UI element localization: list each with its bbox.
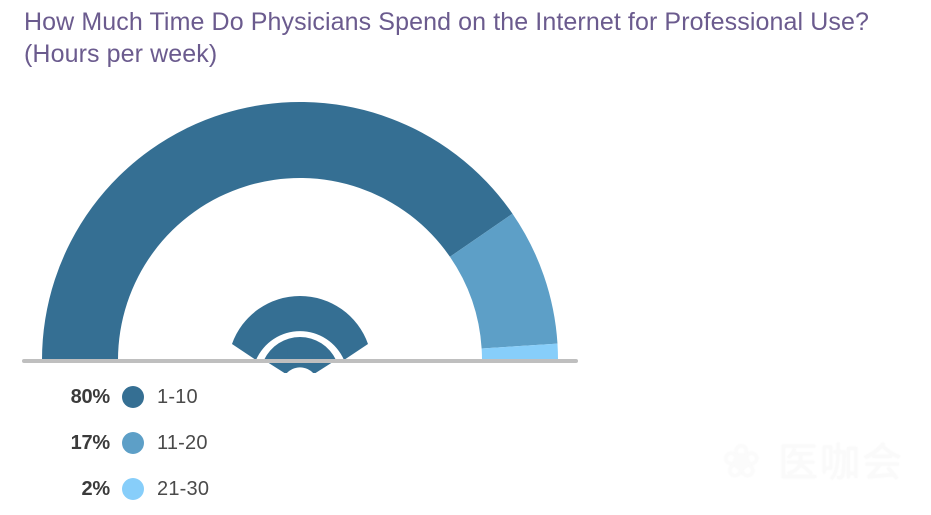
gauge-svg: [0, 88, 600, 373]
legend-label: 21-30: [157, 478, 209, 501]
legend: 80% 1-10 17% 11-20 2% 21-30: [48, 374, 448, 512]
legend-color-swatch-icon: [122, 386, 144, 408]
legend-item-21-30[interactable]: 2% 21-30: [48, 466, 448, 512]
legend-label: 11-20: [157, 432, 208, 455]
legend-color-swatch-icon: [122, 432, 144, 454]
legend-color-swatch-icon: [122, 478, 144, 500]
legend-percent: 2%: [48, 478, 110, 501]
legend-percent: 17%: [48, 432, 110, 455]
watermark: ❀ 医咖会: [722, 428, 912, 500]
page-title: How Much Time Do Physicians Spend on the…: [24, 6, 904, 70]
gauge-baseline: [22, 359, 578, 363]
watermark-text: 医咖会: [778, 430, 904, 488]
gauge-chart: [0, 88, 600, 373]
watermark-logo-icon: ❀: [722, 434, 761, 488]
legend-item-11-20[interactable]: 17% 11-20: [48, 420, 448, 466]
legend-label: 1-10: [157, 386, 198, 409]
legend-item-1-10[interactable]: 80% 1-10: [48, 374, 448, 420]
legend-percent: 80%: [48, 386, 110, 409]
